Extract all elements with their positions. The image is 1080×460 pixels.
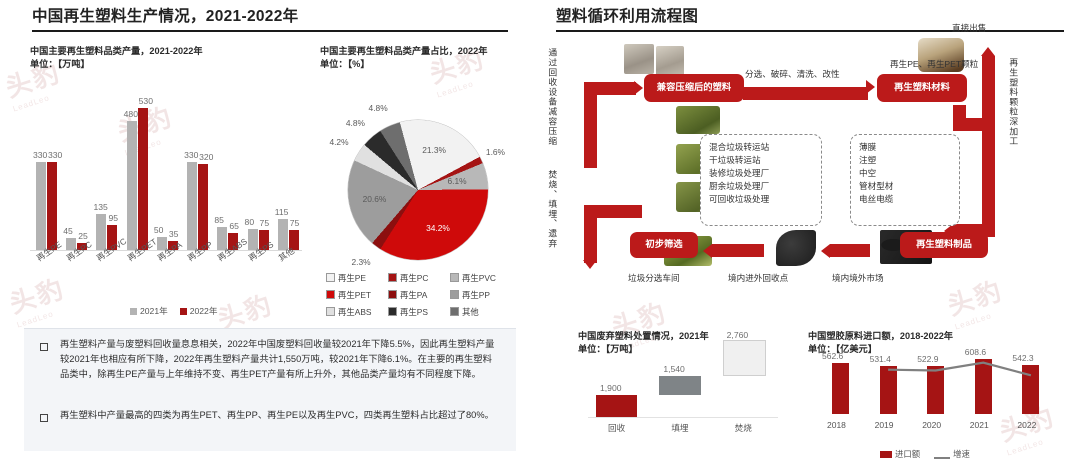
- insight-text-1: 再生塑料产量与废塑料回收量息息相关，2022年中国废塑料回收量较2021年下降5…: [60, 337, 500, 382]
- bar-2022年-再生PP: [198, 164, 208, 250]
- flow-box-recycled-material[interactable]: 再生塑料材料: [877, 74, 967, 102]
- bar-2021年-再生PP: [187, 162, 197, 250]
- legend-item-import: 进口额: [880, 448, 920, 460]
- bar-value-label: 45: [63, 226, 73, 236]
- legend-item-growth: 增速: [934, 448, 970, 460]
- facility-list-text: 混合垃圾转运站 干垃圾转运站 装修垃圾处理厂 厨余垃圾处理厂 可回收垃圾处理: [709, 141, 813, 206]
- flow-box-initial-screening[interactable]: 初步筛选: [630, 232, 698, 258]
- bar-value-label: 75: [260, 218, 270, 228]
- pie-legend-item: 再生PP: [450, 289, 512, 301]
- facility-list-box: 混合垃圾转运站 干垃圾转运站 装修垃圾处理厂 厨余垃圾处理厂 可回收垃圾处理: [700, 134, 822, 226]
- bar-group: 330330: [36, 100, 58, 250]
- bar-2022年-再生PE: [47, 162, 57, 250]
- bar-value-label: 65: [229, 221, 239, 231]
- product-list-box: 薄膜 注塑 中空 管材型材 电丝电缆: [850, 134, 960, 226]
- arrow-head-right: [634, 81, 643, 95]
- pie-legend-item: 再生ABS: [326, 306, 388, 318]
- left-panel-title: 中国再生塑料生产情况，2021-2022年: [32, 4, 298, 26]
- arrow-head-left: [703, 244, 712, 258]
- photo-label-recovery: 境内进外回收点: [728, 272, 788, 284]
- pie-legend-item: 其他: [450, 306, 512, 318]
- vertical-label-disposal: 焚烧、填埋、遗弃: [546, 170, 557, 270]
- arrow-head-left: [821, 244, 830, 258]
- product-list-text: 薄膜 注塑 中空 管材型材 电丝电缆: [859, 141, 951, 206]
- bar-value-label: 320: [199, 152, 213, 162]
- arrow-head-up: [981, 47, 995, 56]
- bar-2021年-再生PET: [127, 121, 137, 250]
- arrow-head-down: [583, 260, 597, 269]
- flow-box-compressed-plastic[interactable]: 兼容压缩后的塑料: [644, 74, 744, 102]
- vertical-label-deep-processing: 再生塑料颗粒深加工: [1007, 58, 1018, 158]
- pie-legend-item: 再生PA: [388, 289, 450, 301]
- pie-value-label: 34.2%: [426, 223, 450, 233]
- legend-item-2021: 2021年: [130, 305, 168, 317]
- bar-value-label: 530: [139, 96, 153, 106]
- growth-rate-line: [818, 346, 1056, 432]
- bar-2021年-再生PE: [36, 162, 46, 250]
- bullet-icon: [40, 343, 48, 351]
- bar-group: 8565: [217, 100, 239, 250]
- insight-text-2: 再生塑料中产量最高的四类为再生PET、再生PP、再生PE以及再生PVC，四类再生…: [60, 408, 500, 423]
- waterfall-value-label: 2,760: [727, 330, 749, 340]
- pie-legend-item: 再生PET: [326, 289, 388, 301]
- process-label: 分选、破碎、清洗、改性: [745, 68, 840, 80]
- pie-slices: [348, 120, 488, 260]
- waterfall-category-label: 填埋: [671, 422, 688, 434]
- waterfall-category-label: 回收: [608, 422, 625, 434]
- bar-value-label: 50: [154, 225, 164, 235]
- photo-label-market: 境内境外市场: [832, 272, 884, 284]
- bar-2022年-再生PET: [138, 108, 148, 250]
- title-divider: [556, 30, 1064, 32]
- pie-value-label: 2.3%: [352, 257, 371, 267]
- production-bar-chart: 3303304525135954805305035330320856580751…: [30, 96, 302, 251]
- pie-legend-item: 再生PE: [326, 272, 388, 284]
- bar-value-label: 480: [124, 109, 138, 119]
- bar-group: 330320: [187, 100, 209, 250]
- arrow-head-right: [866, 80, 875, 94]
- bar-group: 8075: [248, 100, 270, 250]
- vertical-label-compression: 通过回收设备减容压缩: [546, 48, 557, 153]
- flow-arrow-up-left-h: [584, 82, 636, 95]
- right-panel-title: 塑料循环利用流程图: [556, 4, 698, 26]
- bar-chart-legend: 2021年 2022年: [130, 305, 217, 317]
- bar-value-label: 330: [48, 150, 62, 160]
- photo-label-sorting: 垃圾分选车间: [628, 272, 680, 284]
- pie-value-label: 21.3%: [422, 145, 446, 155]
- pie-legend-item: 再生PVC: [450, 272, 512, 284]
- bar-value-label: 95: [108, 213, 118, 223]
- page-root: 头豹LeadLeo 头豹LeadLeo 头豹LeadLeo 头豹LeadLeo …: [0, 0, 1080, 460]
- bar-value-label: 75: [290, 218, 300, 228]
- photo-baled-plastic: [624, 44, 654, 74]
- icon-globe-recycle: [776, 230, 816, 266]
- bar-group: 13595: [96, 100, 118, 250]
- flow-arrow-right-column: [982, 56, 995, 236]
- pellets-label: 再生PE、再生PET颗粒: [890, 58, 978, 70]
- pie-value-label: 20.6%: [363, 194, 387, 204]
- left-panel: 中国再生塑料生产情况，2021-2022年 中国主要再生塑料品类产量，2021-…: [0, 0, 540, 460]
- waterfall-value-label: 1,900: [600, 383, 622, 393]
- bar-value-label: 330: [33, 150, 47, 160]
- pie-chart-title: 中国主要再生塑料品类产量占比，2022年 单位：【%】: [320, 45, 487, 72]
- pie-value-label: 4.8%: [369, 103, 388, 113]
- bar-value-label: 330: [184, 150, 198, 160]
- waste-disposal-waterfall-chart: 1,900回收1,540填埋2,760焚烧: [588, 352, 778, 432]
- photo-shredder-machine: [676, 106, 720, 134]
- bar-value-label: 85: [214, 215, 224, 225]
- pie-value-label: 4.8%: [346, 118, 365, 128]
- pie-legend-item: 再生PS: [388, 306, 450, 318]
- bar-chart-title: 中国主要再生塑料品类产量，2021-2022年 单位：【万吨】: [30, 45, 203, 72]
- pie-value-label: 4.2%: [329, 137, 348, 147]
- insight-box: 再生塑料产量与废塑料回收量息息相关，2022年中国废塑料回收量较2021年下降5…: [24, 328, 516, 451]
- bar-value-label: 35: [169, 229, 179, 239]
- flow-arrow-mid: [736, 244, 764, 257]
- import-chart-legend: 进口额 增速: [880, 448, 970, 460]
- title-divider: [32, 30, 508, 32]
- bar-2021年-其他: [278, 219, 288, 250]
- bar-value-label: 135: [93, 202, 107, 212]
- waterfall-bar-焚烧: [723, 340, 766, 376]
- waterfall-value-label: 1,540: [663, 364, 685, 374]
- waterfall-bar-填埋: [659, 376, 700, 395]
- bar-group: 4525: [66, 100, 88, 250]
- share-pie-chart: [348, 120, 488, 260]
- waterfall-category-label: 焚烧: [735, 422, 752, 434]
- legend-item-2022: 2022年: [180, 305, 218, 317]
- import-value-chart: 562.62018531.42019522.92020608.62021542.…: [818, 346, 1056, 432]
- waterfall-baseline: [588, 417, 778, 418]
- flow-box-recycled-products[interactable]: 再生塑料制品: [900, 232, 988, 258]
- flow-arrow-process: [743, 87, 868, 100]
- direct-sale-label: 直接出售: [952, 22, 986, 34]
- photo-baled-plastic-2: [656, 46, 684, 76]
- pie-legend-item: 再生PC: [388, 272, 450, 284]
- bar-2021年-再生PVC: [96, 214, 106, 250]
- bar-group: 11575: [278, 100, 300, 250]
- pie-chart-legend: 再生PE再生PC再生PVC再生PET再生PA再生PP再生ABS再生PS其他: [326, 272, 526, 318]
- pie-value-label: 6.1%: [448, 176, 467, 186]
- bar-value-label: 115: [275, 207, 289, 217]
- bar-group: 5035: [157, 100, 179, 250]
- pie-value-label: 1.6%: [486, 147, 505, 157]
- flow-arrow-recover-left: [830, 244, 870, 257]
- bar-group: 480530: [127, 100, 149, 250]
- bullet-icon: [40, 414, 48, 422]
- flow-arrow-down-v: [584, 205, 597, 263]
- bar-value-label: 80: [245, 217, 255, 227]
- waterfall-bar-回收: [596, 395, 637, 418]
